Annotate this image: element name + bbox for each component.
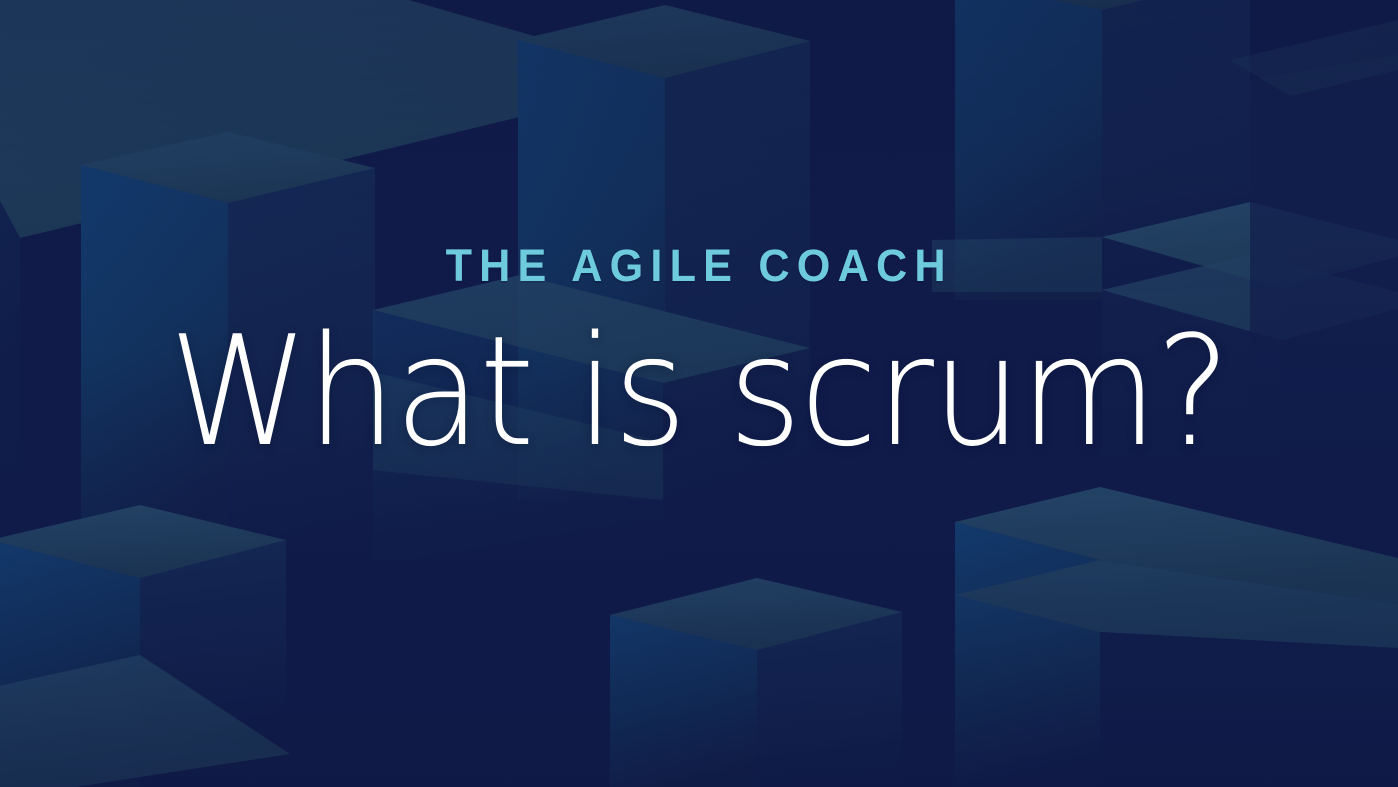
- page-title: What is scrum?: [169, 314, 1229, 469]
- eyebrow-label: THE AGILE COACH: [445, 243, 952, 288]
- slide-content: THE AGILE COACH What is scrum?: [0, 0, 1398, 787]
- title-slide: THE AGILE COACH What is scrum?: [0, 0, 1398, 787]
